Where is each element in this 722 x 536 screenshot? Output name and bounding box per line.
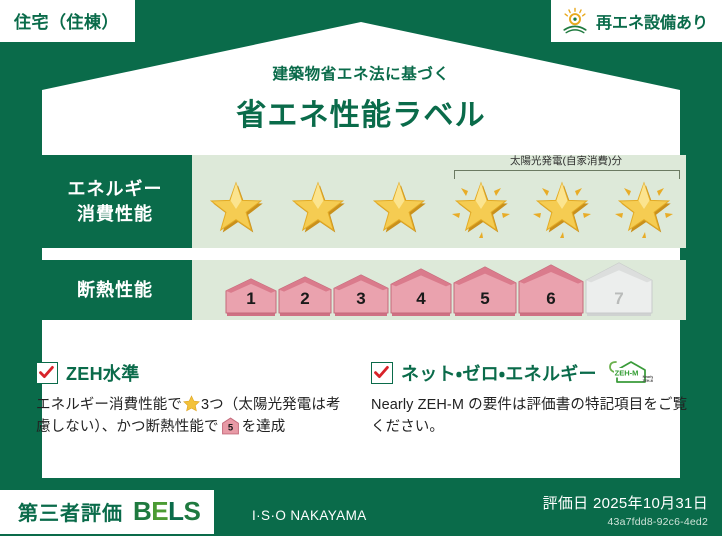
insulation-performance-row: 断熱性能 1234567 xyxy=(38,260,686,320)
check-icon xyxy=(373,364,390,381)
energy-label-line2: 消費性能 xyxy=(77,202,153,226)
zeh-m-logo-sub2: ZEH-M xyxy=(642,379,653,383)
evaluation-date-value: 2025年10月31日 xyxy=(593,495,708,512)
insulation-level-number: 5 xyxy=(453,289,517,309)
label-root: 住宅（住棟） 再エネ設備あり 建築物省エネ法に基づく 省エネ性能ラベル xyxy=(0,0,722,536)
insulation-level-number: 7 xyxy=(585,289,653,309)
insulation-level-scale: 1234567 xyxy=(192,262,686,316)
insulation-level-4: 4 xyxy=(390,268,452,316)
zeh-standard-description: エネルギー消費性能で3つ（太陽光発電は考慮しない）、かつ断熱性能で5を達成 xyxy=(36,394,353,439)
insulation-level-number: 4 xyxy=(390,289,452,309)
inline-house-number: 5 xyxy=(227,423,233,434)
issuer-name: I·S·O NAKAYAMA xyxy=(252,508,367,523)
bels-logo: BELS xyxy=(133,498,200,524)
inline-house-icon: 5 xyxy=(221,417,240,435)
zeh-standard-column: ZEH水準 エネルギー消費性能で3つ（太陽光発電は考慮しない）、かつ断熱性能で5… xyxy=(36,360,353,439)
evaluation-date-label: 評価日 xyxy=(543,495,589,512)
star-3 xyxy=(363,172,435,244)
evaluation-date: 評価日 2025年10月31日 xyxy=(543,492,708,513)
insulation-level-3: 3 xyxy=(333,274,389,316)
check-icon xyxy=(38,364,55,381)
solar-annotation-label: 太陽光発電(自家消費)分 xyxy=(454,156,678,168)
evaluation-date-block: 評価日 2025年10月31日 43a7fdd8-92c6-4ed2 xyxy=(543,492,708,528)
zeh-standard-checkbox[interactable] xyxy=(36,362,58,384)
star-1 xyxy=(200,172,272,244)
net-zero-checkbox[interactable] xyxy=(371,362,393,384)
title-block: 建築物省エネ法に基づく 省エネ性能ラベル xyxy=(0,62,722,134)
insulation-row-body: 1234567 xyxy=(192,260,686,320)
energy-performance-row: エネルギー 消費性能 太陽光発電(自家消費)分 xyxy=(38,155,686,248)
insulation-level-7: 7 xyxy=(585,262,653,316)
star-2 xyxy=(282,172,354,244)
criteria-columns: ZEH水準 エネルギー消費性能で3つ（太陽光発電は考慮しない）、かつ断熱性能で5… xyxy=(36,360,688,439)
energy-label-line1: エネルギー xyxy=(68,177,163,201)
dwelling-type-label: 住宅（住棟） xyxy=(14,13,119,32)
insulation-level-number: 6 xyxy=(518,289,584,309)
net-zero-energy-column: ネット・ゼロ・エネルギー ZEH-M Nearly ZEH-M Nearly Z… xyxy=(371,360,688,439)
zeh-m-logo-label: ZEH-M xyxy=(614,369,638,378)
renewable-badge-label: 再エネ設備あり xyxy=(596,9,708,33)
insulation-level-number: 3 xyxy=(333,289,389,309)
rating-rows: エネルギー 消費性能 太陽光発電(自家消費)分 断熱性能 1234567 xyxy=(38,155,686,332)
third-party-eval-label: 第三者評価 xyxy=(18,497,123,526)
star-6 xyxy=(608,172,680,244)
title-main: 省エネ性能ラベル xyxy=(0,90,722,134)
dwelling-type-tag: 住宅（住棟） xyxy=(0,0,135,42)
zeh-standard-header: ZEH水準 xyxy=(36,360,353,386)
star-rating xyxy=(200,171,680,245)
insulation-level-number: 1 xyxy=(225,289,277,309)
energy-row-label: エネルギー 消費性能 xyxy=(38,155,192,248)
insulation-level-1: 1 xyxy=(225,278,277,316)
inline-star-icon xyxy=(183,395,200,412)
net-zero-description: Nearly ZEH-M の要件は評価書の特記項目をご覧ください。 xyxy=(371,394,688,439)
insulation-label: 断熱性能 xyxy=(77,278,153,302)
label-id: 43a7fdd8-92c6-4ed2 xyxy=(543,516,708,528)
net-zero-title: ネット・ゼロ・エネルギー xyxy=(401,360,597,386)
zeh-desc-part1: エネルギー消費性能で xyxy=(36,397,182,413)
insulation-level-5: 5 xyxy=(453,266,517,316)
insulation-level-2: 2 xyxy=(278,276,332,316)
insulation-level-number: 2 xyxy=(278,289,332,309)
renewable-equipment-badge: 再エネ設備あり xyxy=(551,0,722,42)
footer: 第三者評価 BELS I·S·O NAKAYAMA 評価日 2025年10月31… xyxy=(0,478,722,536)
insulation-level-6: 6 xyxy=(518,264,584,316)
sun-icon xyxy=(561,7,589,35)
energy-row-body: 太陽光発電(自家消費)分 xyxy=(192,155,686,248)
bels-plate: 第三者評価 BELS xyxy=(0,490,214,534)
insulation-row-label: 断熱性能 xyxy=(38,260,192,320)
star-4 xyxy=(445,172,517,244)
zeh-m-logo-sub1: Nearly xyxy=(642,375,652,379)
title-subtitle: 建築物省エネ法に基づく xyxy=(0,62,722,84)
zeh-desc-part3: を達成 xyxy=(242,419,286,435)
zeh-standard-title: ZEH水準 xyxy=(66,360,140,386)
star-5 xyxy=(526,172,598,244)
net-zero-header: ネット・ゼロ・エネルギー ZEH-M Nearly ZEH-M xyxy=(371,360,688,386)
zeh-m-logo-icon: ZEH-M Nearly ZEH-M xyxy=(607,360,653,386)
